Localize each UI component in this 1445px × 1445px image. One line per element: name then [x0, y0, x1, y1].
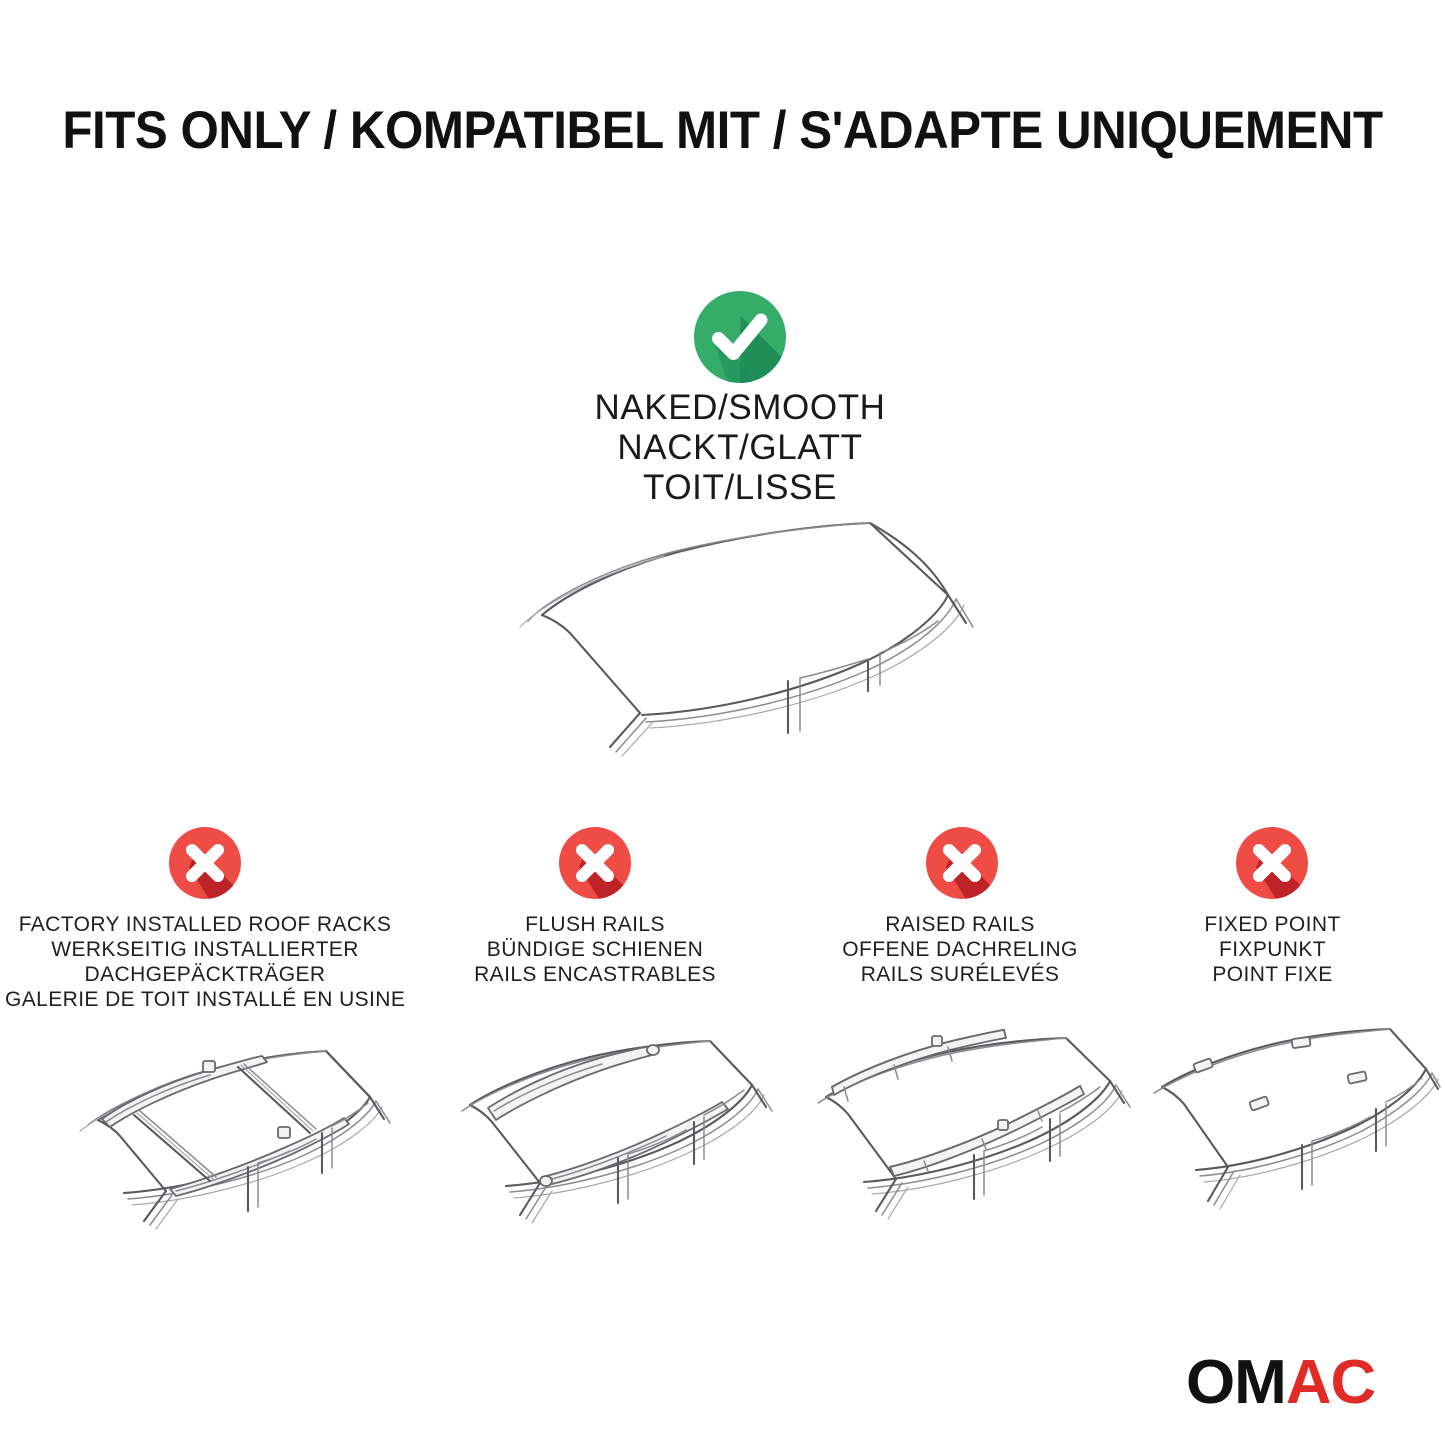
cross-mark-1	[169, 827, 241, 899]
omac-logo: OMAC	[1186, 1352, 1375, 1414]
check-mark	[694, 291, 786, 383]
roof-rack-crossbars-illustration	[40, 1025, 390, 1240]
raised-rails-label: RAISED RAILS OFFENE DACHRELING RAILS SUR…	[785, 912, 1135, 987]
naked-smooth-label: NAKED/SMOOTH NACKT/GLATT TOIT/LISSE	[480, 388, 1000, 508]
flush-rails-label-line-2: BÜNDIGE SCHIENEN	[420, 937, 770, 962]
factory-racks-label-line-3: DACHGEPÄCKTRÄGER	[5, 962, 405, 987]
red-cross-circle-icon-3	[926, 827, 998, 899]
raised-rails-label-line-3: RAILS SURÉLEVÉS	[785, 962, 1135, 987]
green-check-circle-icon	[694, 291, 786, 383]
fixed-point-label-line-2: FIXPUNKT	[1120, 937, 1425, 962]
omac-logo-red-text: AC	[1286, 1348, 1375, 1417]
infographic-page: FITS ONLY / KOMPATIBEL MIT / S'ADAPTE UN…	[0, 0, 1445, 1445]
flush-rails-label-line-3: RAILS ENCASTRABLES	[420, 962, 770, 987]
cross-mark-3	[926, 827, 998, 899]
red-cross-circle-icon-4	[1236, 827, 1308, 899]
raised-rails-label-line-1: RAISED RAILS	[785, 912, 1135, 937]
page-title: FITS ONLY / KOMPATIBEL MIT / S'ADAPTE UN…	[51, 100, 1395, 161]
cross-mark-2	[559, 827, 631, 899]
naked-smooth-roof-illustration	[470, 495, 990, 755]
raised-rails-label-line-2: OFFENE DACHRELING	[785, 937, 1135, 962]
fixed-point-label: FIXED POINT FIXPUNKT POINT FIXE	[1120, 912, 1425, 987]
raised-rails-roof-illustration	[782, 1025, 1132, 1240]
red-cross-circle-icon-1	[169, 827, 241, 899]
red-cross-circle-icon-2	[559, 827, 631, 899]
fixed-point-label-line-1: FIXED POINT	[1120, 912, 1425, 937]
fixed-point-roof-illustration	[1140, 1025, 1440, 1240]
fixed-point-label-line-3: POINT FIXE	[1120, 962, 1425, 987]
naked-smooth-label-line-2: NACKT/GLATT	[480, 428, 1000, 468]
naked-smooth-label-line-1: NAKED/SMOOTH	[480, 388, 1000, 428]
omac-logo-black-text: OM	[1186, 1348, 1286, 1417]
factory-racks-label-line-2: WERKSEITIG INSTALLIERTER	[5, 937, 405, 962]
factory-racks-label-line-1: FACTORY INSTALLED ROOF RACKS	[5, 912, 405, 937]
factory-installed-roof-racks-label: FACTORY INSTALLED ROOF RACKS WERKSEITIG …	[5, 912, 405, 1012]
cross-mark-4	[1236, 827, 1308, 899]
flush-rails-label: FLUSH RAILS BÜNDIGE SCHIENEN RAILS ENCAS…	[420, 912, 770, 987]
factory-racks-label-line-4: GALERIE DE TOIT INSTALLÉ EN USINE	[5, 987, 405, 1012]
flush-rails-roof-illustration	[422, 1025, 772, 1240]
flush-rails-label-line-1: FLUSH RAILS	[420, 912, 770, 937]
